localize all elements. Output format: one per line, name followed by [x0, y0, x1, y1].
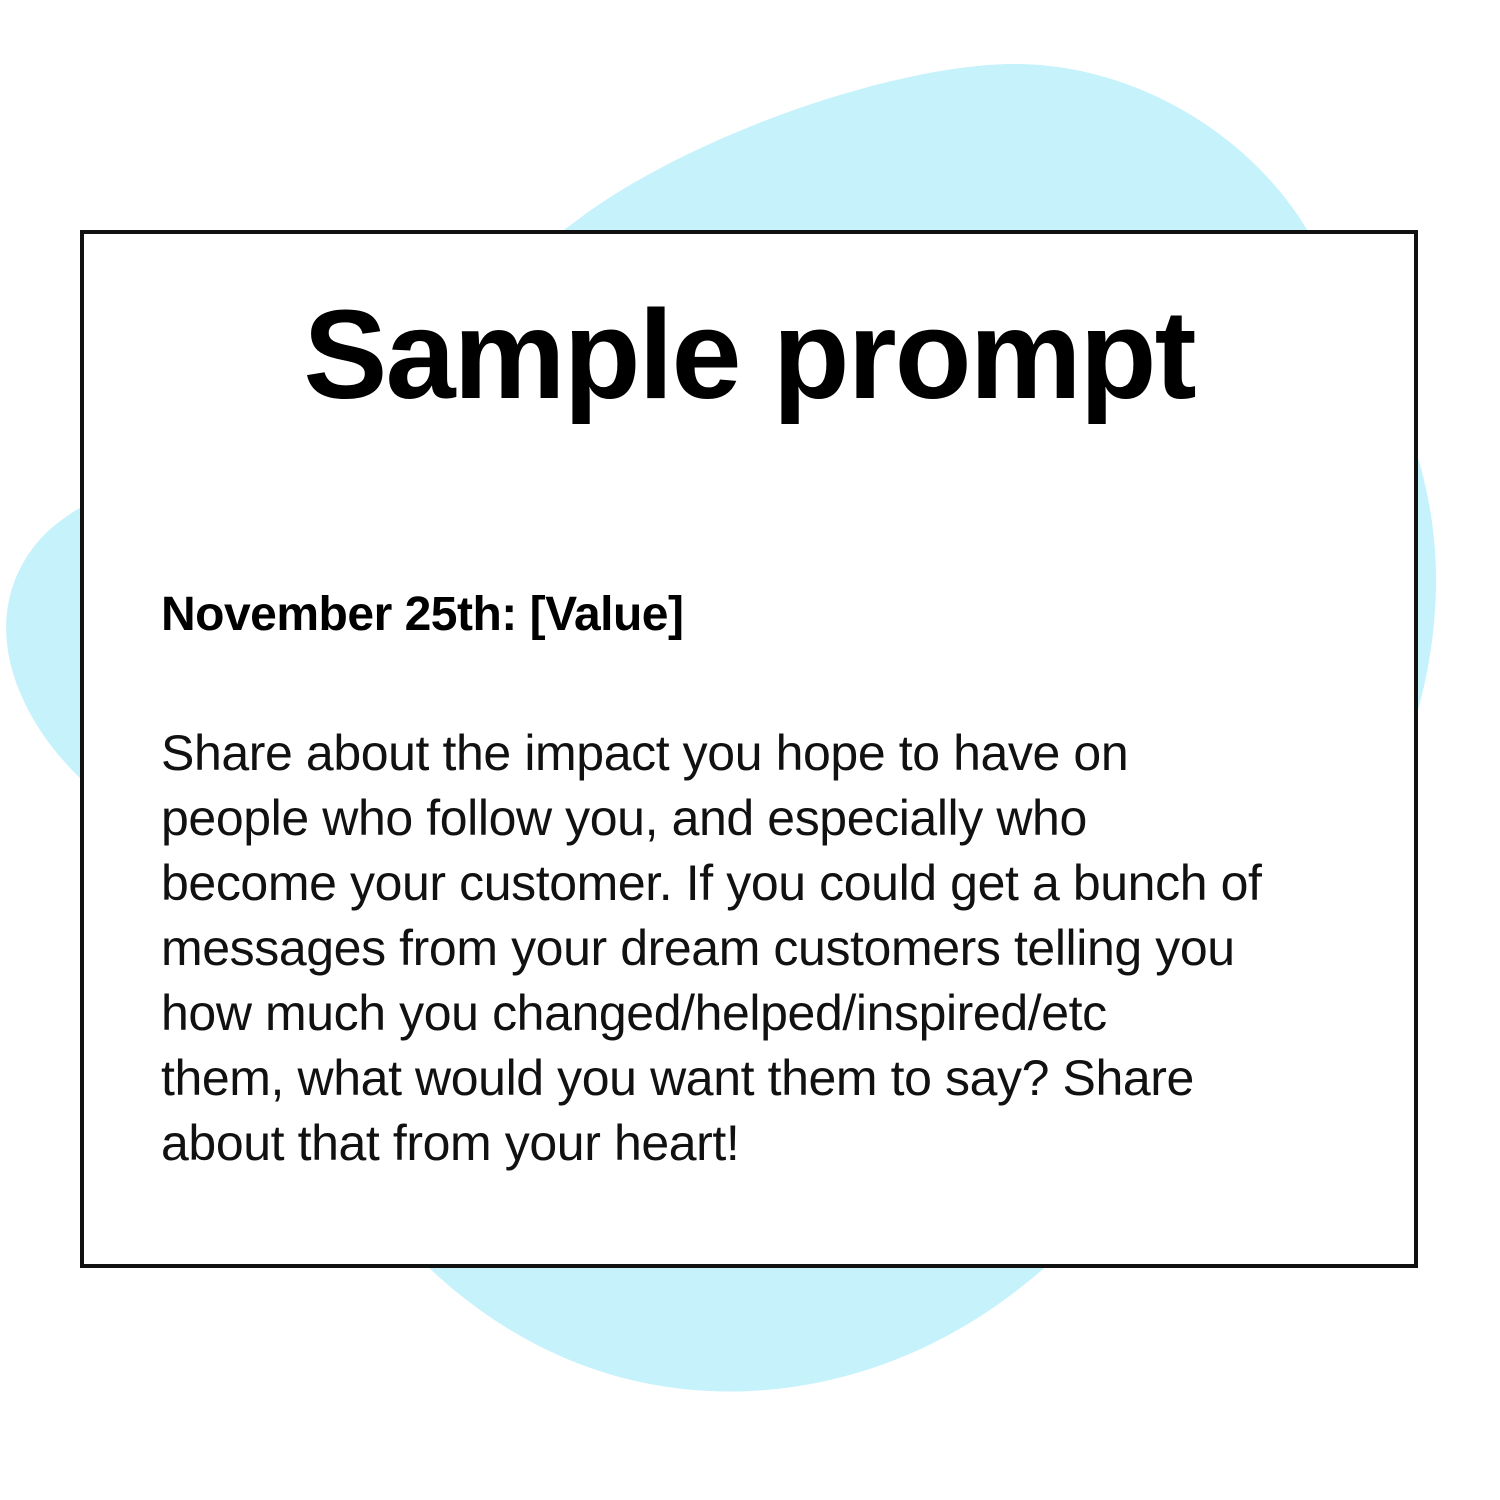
prompt-body-text: Share about the impact you hope to have …	[161, 721, 1376, 1176]
prompt-card: Sample prompt November 25th: [Value] Sha…	[80, 230, 1418, 1268]
prompt-body-line: how much you changed/helped/inspired/etc	[161, 981, 1376, 1046]
prompt-body-line: about that from your heart!	[161, 1111, 1376, 1176]
prompt-date-heading: November 25th: [Value]	[161, 589, 683, 642]
prompt-body-line: people who follow you, and especially wh…	[161, 786, 1376, 851]
page-title: Sample prompt	[84, 292, 1414, 418]
slide-canvas: Sample prompt November 25th: [Value] Sha…	[0, 0, 1500, 1500]
prompt-body-line: Share about the impact you hope to have …	[161, 721, 1376, 786]
prompt-body-line: them, what would you want them to say? S…	[161, 1046, 1376, 1111]
prompt-body-line: messages from your dream customers telli…	[161, 916, 1376, 981]
prompt-body-line: become your customer. If you could get a…	[161, 851, 1376, 916]
